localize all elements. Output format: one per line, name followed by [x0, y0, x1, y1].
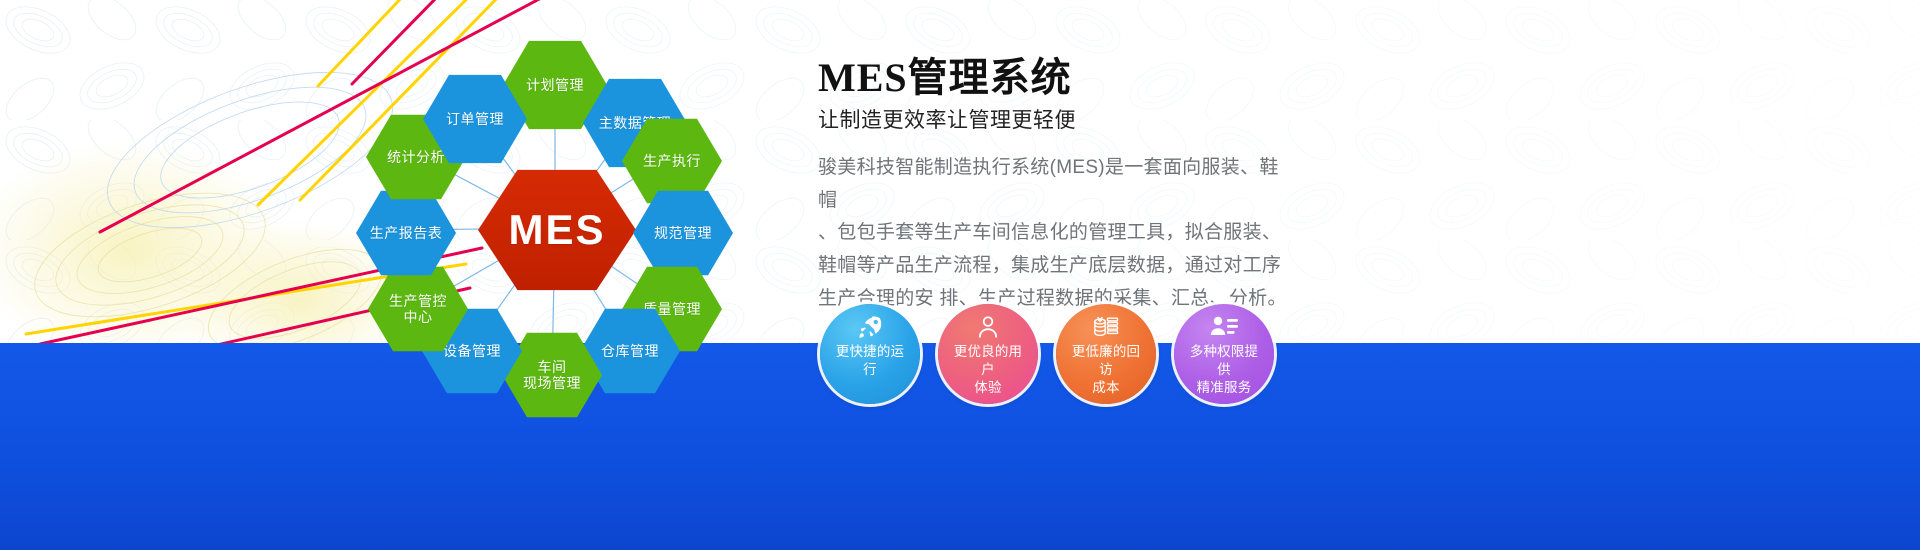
hex-label: 车间 现场管理	[517, 359, 587, 391]
mes-hexagon-diagram: MES 计划管理 主数据管理 生产执行 规范管理 质量管理 仓库管理 车间 现场…	[330, 18, 780, 438]
paragraph-line: 、包包手套等生产车间信息化的管理工具，拟合服装、	[818, 217, 1288, 250]
hex-label: 生产报告表	[364, 225, 449, 241]
page-title: MES管理系统	[818, 56, 1518, 100]
description-paragraph: 骏美科技智能制造执行系统(MES)是一套面向服装、鞋帽 、包包手套等生产车间信息…	[818, 152, 1288, 315]
badge-faster-operation[interactable]: 更快捷的运行	[820, 304, 920, 404]
badge-label: 更低廉的回访 成本	[1056, 343, 1156, 396]
badge-multi-permission-service[interactable]: 多种权限提供 精准服务	[1174, 304, 1274, 404]
paragraph-line: 骏美科技智能制造执行系统(MES)是一套面向服装、鞋帽	[818, 152, 1288, 217]
page-subtitle: 让制造更效率让管理更轻便	[818, 104, 1518, 134]
paragraph-line: 鞋帽等产品生产流程，集成生产底层数据，通过对工序	[818, 250, 1288, 283]
hex-label: 生产管控 中心	[383, 293, 453, 325]
badge-lower-revisit-cost[interactable]: 更低廉的回访 成本	[1056, 304, 1156, 404]
feature-badge-row: 更快捷的运行 更优良的用户 体验	[820, 304, 1274, 404]
hex-label: 计划管理	[520, 77, 590, 93]
hex-label: 订单管理	[440, 111, 510, 127]
hex-label: 统计分析	[381, 149, 451, 165]
banner-text-column: MES管理系统 让制造更效率让管理更轻便 骏美科技智能制造执行系统(MES)是一…	[818, 56, 1518, 315]
user-icon	[975, 312, 1001, 342]
diagram-center-label: MES	[502, 206, 611, 254]
badge-label: 更快捷的运行	[820, 343, 920, 379]
rocket-icon	[857, 312, 883, 342]
banner-root: MES 计划管理 主数据管理 生产执行 规范管理 质量管理 仓库管理 车间 现场…	[0, 0, 1920, 550]
hex-label: 规范管理	[648, 225, 718, 241]
hex-label: 生产执行	[637, 153, 707, 169]
hex-label: 仓库管理	[595, 343, 665, 359]
user-list-icon	[1209, 312, 1239, 342]
money-stack-icon	[1092, 312, 1120, 342]
hex-label: 设备管理	[437, 343, 507, 359]
badge-better-user-experience[interactable]: 更优良的用户 体验	[938, 304, 1038, 404]
badge-label: 更优良的用户 体验	[938, 343, 1038, 396]
badge-label: 多种权限提供 精准服务	[1174, 343, 1274, 396]
